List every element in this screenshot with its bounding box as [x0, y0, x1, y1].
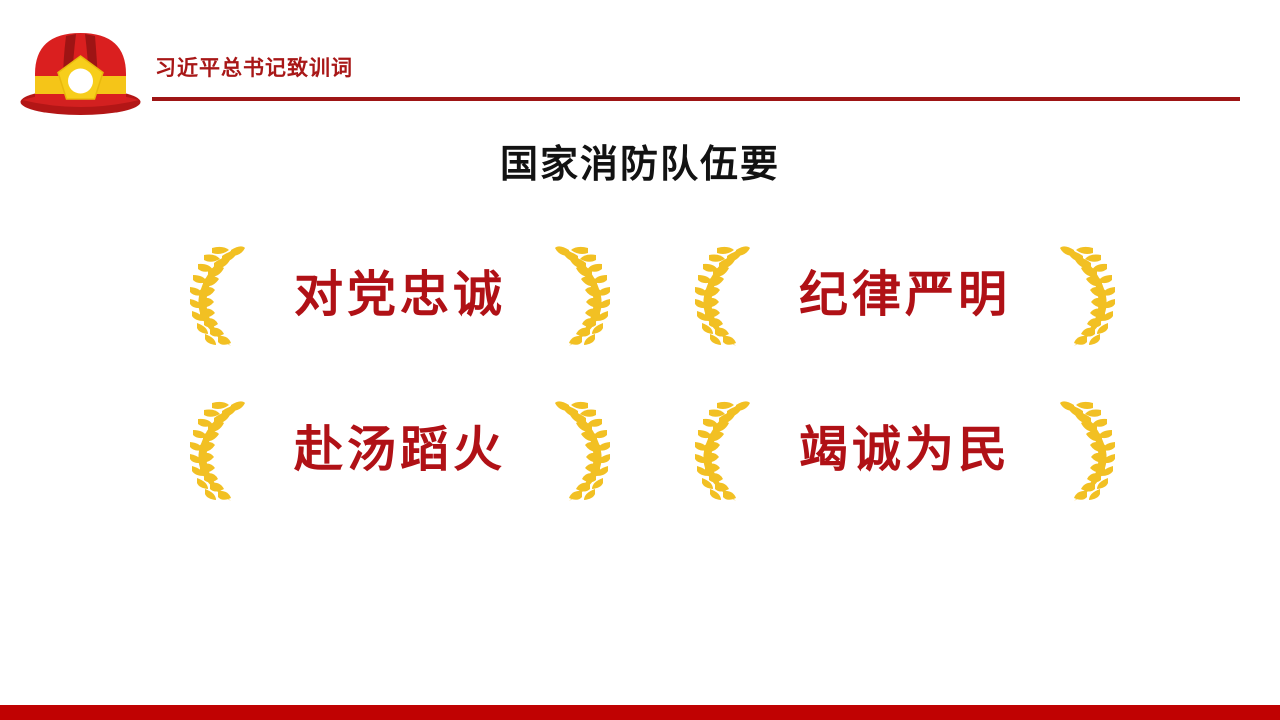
laurel-branch-icon — [690, 397, 752, 505]
fire-helmet-icon — [18, 18, 143, 116]
laurel-branch-icon — [1058, 397, 1120, 505]
slogan-text: 对党忠诚 — [247, 271, 553, 320]
slogan-text: 纪律严明 — [752, 271, 1058, 320]
slide-header: 习近平总书记致训词 — [0, 0, 1280, 120]
slogan-text: 赴汤蹈火 — [247, 426, 553, 475]
laurel-branch-icon — [553, 242, 615, 350]
laurel-branch-icon — [185, 242, 247, 350]
slogan-item: 纪律严明 — [690, 228, 1120, 363]
laurel-branch-icon — [1058, 242, 1120, 350]
footer-accent-bar — [0, 705, 1280, 720]
slogan-grid: 对党忠诚 — [165, 228, 1125, 528]
laurel-branch-icon — [185, 397, 247, 505]
header-title: 习近平总书记致训词 — [155, 58, 353, 79]
laurel-branch-icon — [553, 397, 615, 505]
slogan-item: 竭诚为民 — [690, 383, 1120, 518]
presentation-slide: 习近平总书记致训词 国家消防队伍要 — [0, 0, 1280, 720]
header-divider-rule — [152, 97, 1240, 101]
slogan-text: 竭诚为民 — [752, 426, 1058, 475]
slogan-item: 赴汤蹈火 — [185, 383, 615, 518]
slogan-item: 对党忠诚 — [185, 228, 615, 363]
page-title: 国家消防队伍要 — [0, 144, 1280, 188]
laurel-branch-icon — [690, 242, 752, 350]
